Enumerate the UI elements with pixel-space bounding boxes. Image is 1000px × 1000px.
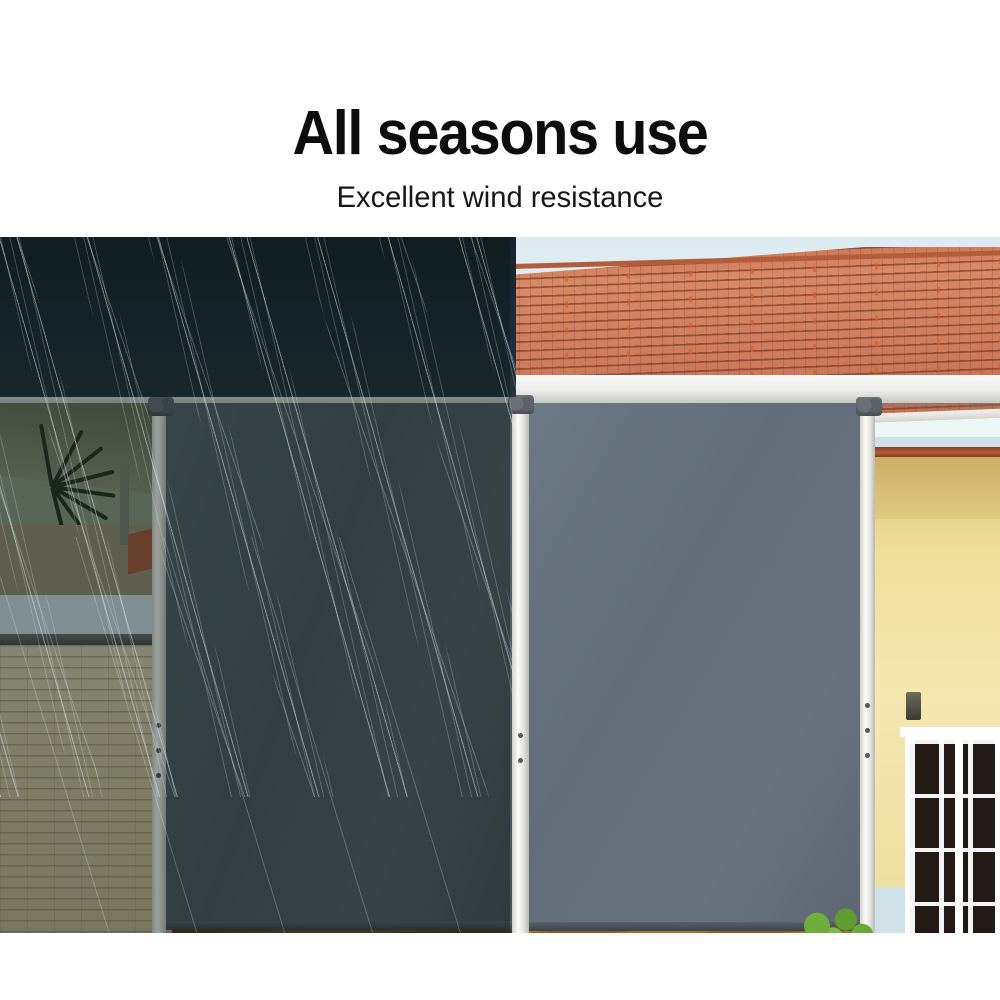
wall-lamp-icon: [906, 692, 921, 720]
header-band: All seasons use Excellent wind resistanc…: [0, 0, 1000, 237]
sky-storm: [0, 237, 516, 397]
mounting-bracket-right: [856, 397, 882, 416]
tree-canopy: [790, 905, 880, 933]
mounting-bracket-middle: [508, 395, 534, 414]
mounting-bracket-left: [148, 397, 174, 416]
page-title: All seasons use: [35, 103, 965, 165]
product-marketing-image: All seasons use Excellent wind resistanc…: [0, 0, 1000, 1000]
blind-fabric-left: [164, 403, 516, 930]
blind-fabric-right: [526, 403, 864, 931]
guide-rail-middle: [512, 403, 529, 933]
small-tree: [790, 905, 880, 933]
door-mullion: [955, 740, 963, 933]
roller-blind-right[interactable]: [526, 403, 864, 931]
stone-wall-cap: [0, 634, 172, 645]
blind-bottom-bar-left: [164, 921, 516, 930]
roller-blind-left[interactable]: [164, 403, 516, 930]
product-photo: Note: Only prevent level 1-2 wind.: [0, 237, 1000, 933]
french-doors: [905, 735, 1000, 933]
palm-plant: [6, 439, 116, 539]
door-glass: [910, 740, 995, 933]
guide-rail-right: [860, 403, 875, 933]
neighbour-post: [120, 465, 129, 545]
stone-wall: [0, 645, 172, 933]
page-subtitle: Excellent wind resistance: [15, 183, 985, 213]
guide-rail-left: [152, 403, 166, 933]
